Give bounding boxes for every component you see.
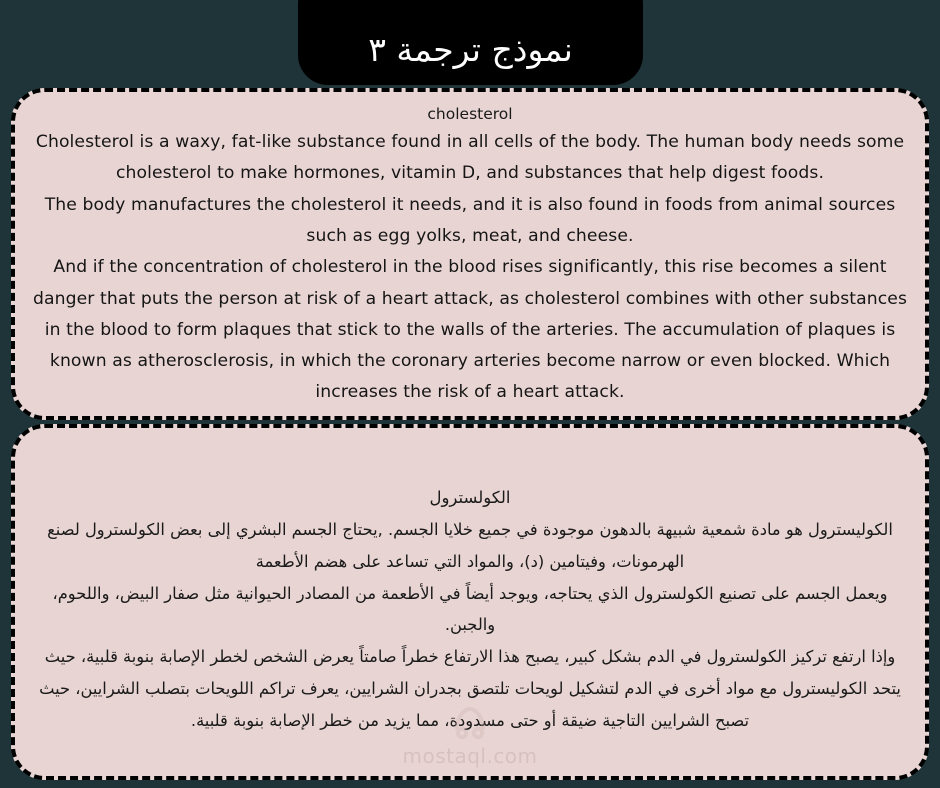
page-title: نموذج ترجمة ٣ [368, 31, 573, 69]
header-title-pill: نموذج ترجمة ٣ [298, 0, 643, 85]
translation-text-card: الكولسترول الكوليسترول هو مادة شمعية شبي… [11, 424, 929, 780]
translation-paragraph-3: وإذا ارتفع تركيز الكولسترول في الدم بشكل… [29, 641, 911, 736]
source-paragraph-1: Cholesterol is a waxy, fat-like substanc… [29, 127, 911, 190]
translation-paragraph-1: الكوليسترول هو مادة شمعية شبيهة بالدهون … [29, 514, 911, 578]
source-text-card: cholesterol Cholesterol is a waxy, fat-l… [11, 88, 929, 420]
source-heading: cholesterol [29, 102, 911, 126]
source-paragraph-2: The body manufactures the cholesterol it… [29, 190, 911, 253]
translation-body: الكولسترول الكوليسترول هو مادة شمعية شبي… [29, 484, 911, 736]
watermark-text: mostaql.com [15, 744, 925, 768]
translation-heading: الكولسترول [29, 484, 911, 512]
translation-paragraph-2: ويعمل الجسم على تصنيع الكولسترول الذي يح… [29, 578, 911, 642]
source-paragraph-3: And if the concentration of cholesterol … [29, 252, 911, 408]
